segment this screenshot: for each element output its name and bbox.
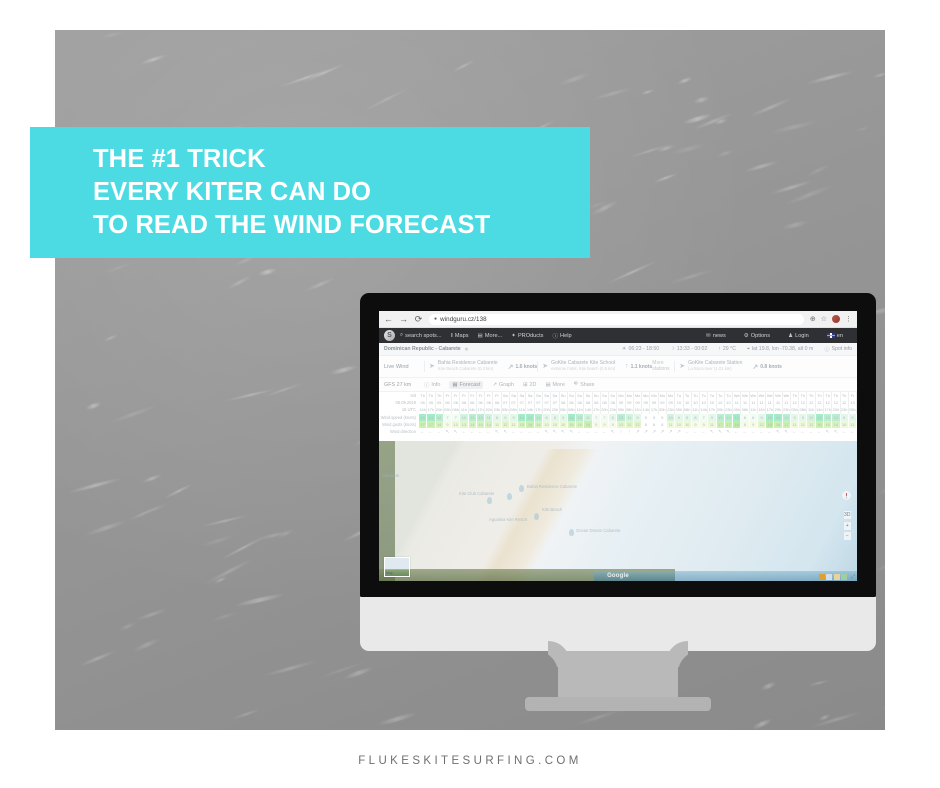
wind-speed-cell: 13 — [717, 414, 725, 421]
hour-cell: 14h — [419, 406, 427, 413]
wind-speed-cell: 9 — [560, 414, 568, 421]
uk-flag-icon — [827, 333, 835, 338]
row-label: Init — [379, 392, 419, 399]
hour-cell: 20h — [774, 406, 782, 413]
wind-gust-cell: 17 — [783, 421, 791, 428]
wind-speed-cell: 15 — [419, 414, 427, 421]
wind-gust-cell: 10 — [675, 421, 683, 428]
map-zoom-in-button[interactable]: + — [844, 522, 852, 530]
table-row-hour: 18 UTC 14h17h20h05h08h11h14h17h20h23h05h… — [379, 406, 857, 413]
day-cell: 06 — [444, 399, 452, 406]
weekday-cell: We — [774, 392, 782, 399]
map-zoom-out-button[interactable]: − — [844, 532, 852, 540]
wind-gust-cell: 9 — [609, 421, 617, 428]
weekday-cell: Fr — [469, 392, 477, 399]
wind-speed-cells: 1514127710131311899141412889141311778131… — [419, 414, 857, 421]
day-cell: 12 — [824, 399, 832, 406]
wind-gust-cell: 18 — [766, 421, 774, 428]
wind-speed-cell: 9 — [634, 414, 642, 421]
wind-speed-cell: 13 — [783, 414, 791, 421]
language-label: en — [837, 333, 843, 339]
windguru-logo[interactable]: S — [384, 330, 395, 341]
hour-cell: 20h — [485, 406, 493, 413]
wind-gust-cell: 15 — [477, 421, 485, 428]
wind-direction-cell: ← — [436, 428, 444, 435]
wind-speed-cell: 9 — [791, 414, 799, 421]
wind-speed-cell: 13 — [469, 414, 477, 421]
live-station[interactable]: ➤ GoKite Cabarete Station La Boca river … — [674, 361, 742, 372]
weekday-cell: Sa — [510, 392, 518, 399]
day-cell: 06 — [477, 399, 485, 406]
wind-speed-cell: 7 — [601, 414, 609, 421]
day-cell: 11 — [733, 399, 741, 406]
weekday-cell: Tu — [708, 392, 716, 399]
nav-label: Login — [795, 333, 809, 339]
reload-icon[interactable]: ⟳ — [414, 315, 423, 324]
wind-speed-cell: 6 — [741, 414, 749, 421]
map-layer-swatch[interactable] — [834, 574, 840, 580]
pegman-icon[interactable] — [819, 574, 825, 580]
grid-icon: ⊞ — [523, 382, 528, 388]
tab-forecast[interactable]: ▦ Forecast — [449, 381, 483, 389]
hour-cell: 08h — [626, 406, 634, 413]
wind-direction-cell: ← — [460, 428, 468, 435]
nav-login[interactable]: ♟ Login — [788, 333, 809, 339]
hour-cell: 05h — [675, 406, 683, 413]
wind-speed-cell: 14 — [518, 414, 526, 421]
sunrise-sunset: ☀ 06:23 - 18:50 — [622, 346, 659, 352]
wind-gust-cell: 16 — [584, 421, 592, 428]
spot-info-link[interactable]: ⓘ Spot info — [824, 346, 852, 353]
hour-cell: 14h — [700, 406, 708, 413]
bookmark-star-icon[interactable]: ☆ — [821, 316, 827, 323]
table-row-day: 05.09.2019 05050506060606060606070707070… — [379, 399, 857, 406]
wind-gust-cell: 10 — [543, 421, 551, 428]
wind-direction-cell: ↖ — [832, 428, 840, 435]
map-type-label: Map — [386, 571, 393, 575]
wind-speed-cell: 8 — [692, 414, 700, 421]
wind-gust-cell: 17 — [427, 421, 435, 428]
live-wind-row: Live Wind ➤ Bahia Residence Cabarete Kit… — [379, 356, 857, 378]
tab-more[interactable]: ▤ More — [545, 382, 564, 388]
wind-speed-cell: 11 — [584, 414, 592, 421]
weekday-cell: Th — [436, 392, 444, 399]
map-pin[interactable] — [487, 497, 492, 504]
nav-more[interactable]: ▤ More... — [478, 333, 503, 339]
weekday-cell: Su — [601, 392, 609, 399]
map-pin[interactable] — [519, 485, 524, 492]
wind-gust-cell: 12 — [634, 421, 642, 428]
wind-speed-cell: 14 — [568, 414, 576, 421]
wind-gust-cell: 13 — [460, 421, 468, 428]
navbar-right: ✉ news ⚙ Options ♟ Login — [706, 333, 852, 339]
wind-direction-cell: ← — [477, 428, 485, 435]
tab-2d[interactable]: ⊞ 2D — [523, 382, 536, 388]
wind-direction-cell: ← — [758, 428, 766, 435]
wind-direction-cell: ← — [700, 428, 708, 435]
weekday-cell: Tu — [675, 392, 683, 399]
day-cell: 07 — [551, 399, 559, 406]
day-cell: 07 — [526, 399, 534, 406]
products-icon: ✦ — [511, 333, 516, 339]
wind-speed-cell: 9 — [510, 414, 518, 421]
weekday-cell: Fr — [460, 392, 468, 399]
day-cell: 12 — [799, 399, 807, 406]
hour-cell: 05h — [444, 406, 452, 413]
google-watermark: Google — [607, 573, 629, 579]
wind-direction-cell: ↖ — [493, 428, 501, 435]
wind-speed-cell: 6 — [750, 414, 758, 421]
tab-share[interactable]: ⎆ Share — [574, 381, 595, 388]
day-cell: 11 — [750, 399, 758, 406]
hour-cell: 05h — [791, 406, 799, 413]
nav-help[interactable]: ⓘ Help — [552, 332, 571, 340]
wind-gust-cell: 15 — [518, 421, 526, 428]
weekday-cell: Th — [816, 392, 824, 399]
nav-label: PROducts — [518, 333, 544, 339]
weekday-cell: We — [733, 392, 741, 399]
wind-direction-cell: ↗ — [667, 428, 675, 435]
map-layer-swatch[interactable] — [826, 574, 832, 580]
wind-gust-cell: 15 — [568, 421, 576, 428]
weekday-cell: Sa — [518, 392, 526, 399]
nav-maps[interactable]: ‖ Maps — [451, 333, 469, 339]
headline-text: THE #1 TRICK EVERY KITER CAN DO TO READ … — [93, 143, 490, 242]
hour-cell: 05h — [502, 406, 510, 413]
fullscreen-icon[interactable]: ⤢ — [851, 574, 855, 580]
nav-label: news — [713, 333, 726, 339]
wind-direction-cell: ← — [791, 428, 799, 435]
browser-window: ← → ⟳ ● windguru.cz/138 ⊕ ☆ ⋮ — [379, 311, 857, 581]
nav-news[interactable]: ✉ news — [706, 333, 726, 339]
search-icon: ⌕ — [400, 332, 403, 339]
row-label: Wind speed (knots) — [379, 414, 419, 421]
nav-label: search spots... — [405, 333, 441, 339]
day-cell: 08 — [560, 399, 568, 406]
more-stations-link[interactable]: More stations — [652, 361, 674, 372]
wind-gust-cell: 11 — [708, 421, 716, 428]
day-cell: 10 — [692, 399, 700, 406]
wind-direction-cell: ↖ — [824, 428, 832, 435]
spot-info-bar: Dominican Republic - Cabarete ★ ☀ 06:23 … — [379, 343, 857, 356]
map-label: Kite Club Cabarete — [459, 491, 494, 496]
help-icon: ⓘ — [552, 332, 558, 340]
station-sub: extreme hotel, Kite beach (0.5 km) — [551, 367, 615, 372]
gear-icon: ⚙ — [744, 333, 749, 339]
wind-gust-cell: 14 — [832, 421, 840, 428]
day-cell: 08 — [601, 399, 609, 406]
monitor-stand-foot — [525, 697, 711, 711]
wind-gust-cell: 16 — [774, 421, 782, 428]
row-label: Wind direction — [379, 428, 419, 435]
wind-speed-cell: 12 — [535, 414, 543, 421]
wind-speed-cell: 10 — [667, 414, 675, 421]
map-pin[interactable] — [569, 529, 574, 536]
wind-gust-cell: 11 — [493, 421, 501, 428]
moonrise-moonset: ☽ 13:33 - 00:02 — [670, 346, 707, 352]
nav-products[interactable]: ✦ PROducts — [511, 333, 543, 339]
nav-options[interactable]: ⚙ Options — [744, 333, 770, 339]
news-icon: ✉ — [706, 333, 711, 339]
day-cell: 09 — [642, 399, 650, 406]
hour-cell: 11h — [634, 406, 642, 413]
wind-gust-cell: 10 — [684, 421, 692, 428]
wind-direction-cell: ← — [535, 428, 543, 435]
day-cell: 08 — [584, 399, 592, 406]
weekday-cell: Fr — [477, 392, 485, 399]
wind-direction-cell: ← — [733, 428, 741, 435]
sun-times: 06:23 - 18:50 — [629, 346, 660, 352]
wind-speed-cell: 9 — [675, 414, 683, 421]
wind-gust-cell: 14 — [436, 421, 444, 428]
wind-speed-cell: 13 — [477, 414, 485, 421]
wind-direction-cell: ← — [692, 428, 700, 435]
live-wind-label: Live Wind — [384, 364, 424, 370]
map-pin[interactable] — [534, 513, 539, 520]
headline-banner: THE #1 TRICK EVERY KITER CAN DO TO READ … — [30, 127, 590, 258]
browser-menu-icon[interactable]: ⋮ — [845, 316, 852, 323]
hour-cell: 05h — [849, 406, 857, 413]
address-bar[interactable]: ● windguru.cz/138 — [429, 314, 804, 325]
hour-cell: 11h — [518, 406, 526, 413]
sun-icon: ☀ — [622, 346, 627, 352]
day-cell: 12 — [841, 399, 849, 406]
wind-arrow-icon: ➤ — [679, 362, 685, 370]
weekday-cell: Mo — [634, 392, 642, 399]
table-icon: ▦ — [452, 382, 457, 388]
wind-speed-cell: 5 — [650, 414, 658, 421]
day-cell: 09 — [617, 399, 625, 406]
wind-direction-cells: ←←←↖↖←←←←↖↖←←←←↖↖↖↖←←←←↖↑↑↗↗↗↗↗↗←←←↖↖↖←←… — [419, 428, 857, 435]
weekday-cell: Tu — [725, 392, 733, 399]
wind-speed-cell: 14 — [774, 414, 782, 421]
model-tab-bar: GFS 27 km ⓘ Info ▦ Forecast ↗ Graph ⊞ — [379, 378, 857, 392]
imac-monitor: ← → ⟳ ● windguru.cz/138 ⊕ ☆ ⋮ — [360, 293, 876, 661]
more-icon: ▤ — [545, 382, 550, 388]
wind-gust-cell: 11 — [849, 421, 857, 428]
station-sub: La Boca river (1.01 km) — [688, 367, 742, 372]
map-pin[interactable] — [507, 493, 512, 500]
more-icon: ▤ — [478, 333, 483, 339]
wind-speed-cell: 11 — [626, 414, 634, 421]
weekday-cell: Sa — [502, 392, 510, 399]
wind-gust-cell: 17 — [717, 421, 725, 428]
maps-icon: ‖ — [451, 333, 453, 339]
map-beach-strip — [393, 449, 766, 581]
compass-icon[interactable] — [842, 491, 851, 500]
wind-gust-cell: 6 — [650, 421, 658, 428]
satellite-map[interactable]: Bahia Residence Cabarete Kite Club Cabar… — [379, 441, 857, 581]
wind-gust-cell: 9 — [444, 421, 452, 428]
weekday-cell: We — [758, 392, 766, 399]
lock-icon: ● — [434, 316, 437, 322]
wind-speed-cell: 8 — [841, 414, 849, 421]
wind-direction-cell: ↖ — [568, 428, 576, 435]
forecast-table: Init ThThThFrFrFrFrFrFrFrSaSaSaSaSaSaSaS… — [379, 392, 857, 436]
hour-cell: 17h — [535, 406, 543, 413]
wind-direction-cell: ← — [419, 428, 427, 435]
weekday-cell: Su — [560, 392, 568, 399]
map-bottom-controls: ⤢ — [819, 574, 855, 580]
wind-speed-cell: 15 — [766, 414, 774, 421]
wind-gust-cell: 10 — [560, 421, 568, 428]
nav-label: Options — [751, 333, 770, 339]
map-label: Cabarete — [382, 473, 399, 478]
row-label: 18 UTC — [379, 406, 419, 413]
hour-cell: 11h — [750, 406, 758, 413]
wind-direction-cell: ↖ — [551, 428, 559, 435]
wind-gust-cell: 9 — [692, 421, 700, 428]
weekday-cell: Su — [584, 392, 592, 399]
wind-direction-cell: ↖ — [543, 428, 551, 435]
wind-speed-cell: 9 — [849, 414, 857, 421]
hour-cell: 23h — [609, 406, 617, 413]
weekday-cell: Tu — [692, 392, 700, 399]
hour-cell: 20h — [659, 406, 667, 413]
wind-speed-cell: 7 — [593, 414, 601, 421]
coordinates: ⌖ lat 19.8, lon -70.38, alt 0 m — [747, 346, 813, 353]
hour-cell: 14h — [469, 406, 477, 413]
day-cells: 0505050606060606060607070707070707080808… — [419, 399, 857, 406]
live-station[interactable]: ➤ Bahia Residence Cabarete Kite Beach Ca… — [424, 361, 498, 372]
extensions-icon[interactable]: ⊕ — [810, 316, 816, 323]
table-row-wind-direction: Wind direction ←←←↖↖←←←←↖↖←←←←↖↖↖↖←←←←↖↑… — [379, 428, 857, 435]
weekday-cell: Th — [419, 392, 427, 399]
forward-icon[interactable]: → — [399, 315, 408, 324]
wind-speed-cell: 7 — [700, 414, 708, 421]
map-3d-button[interactable]: 3D — [844, 511, 852, 519]
favorite-star-icon[interactable]: ★ — [464, 346, 469, 353]
tab-info[interactable]: ⓘ Info — [424, 381, 440, 389]
weekday-cell: Sa — [535, 392, 543, 399]
nav-label: Help — [560, 333, 572, 339]
wind-direction-cell: ← — [469, 428, 477, 435]
map-label: Agualina Kite Resort — [489, 517, 527, 522]
weekday-cell: Mo — [667, 392, 675, 399]
back-icon[interactable]: ← — [384, 315, 393, 324]
day-cell: 06 — [460, 399, 468, 406]
wind-gust-cell: 8 — [741, 421, 749, 428]
moon-times: 13:33 - 00:02 — [677, 346, 708, 352]
temperature: ↑ 29 °C — [718, 346, 736, 352]
day-cell: 09 — [659, 399, 667, 406]
map-label: Ocean Dream Cabarete — [576, 528, 620, 533]
wind-direction-cell: ↖ — [708, 428, 716, 435]
knot-arrow-icon: ↑ — [625, 363, 629, 370]
nav-search-spots[interactable]: ⌕ search spots... — [400, 332, 442, 339]
wind-gust-cell: 15 — [576, 421, 584, 428]
day-cell: 10 — [708, 399, 716, 406]
weekday-cell: Tu — [700, 392, 708, 399]
weekday-cell: We — [741, 392, 749, 399]
hour-cell: 17h — [593, 406, 601, 413]
wind-speed-cell: 10 — [460, 414, 468, 421]
live-station[interactable]: ➤ GoKite Cabarete Kite School extreme ho… — [537, 361, 615, 372]
row-label: 05.09.2019 — [379, 399, 419, 406]
day-cell: 11 — [758, 399, 766, 406]
wind-arrow-icon: ➤ — [542, 362, 548, 370]
wind-speed-cell: 13 — [824, 414, 832, 421]
day-cell: 06 — [452, 399, 460, 406]
weekday-cell: We — [750, 392, 758, 399]
day-cell: 09 — [634, 399, 642, 406]
spot-name[interactable]: Dominican Republic - Cabarete — [384, 346, 461, 352]
wind-direction-cell: ← — [799, 428, 807, 435]
hour-cell: 14h — [758, 406, 766, 413]
weekday-cells: ThThThFrFrFrFrFrFrFrSaSaSaSaSaSaSaSuSuSu… — [419, 392, 857, 399]
wind-gust-cell: 10 — [452, 421, 460, 428]
wind-direction-cell: ← — [518, 428, 526, 435]
day-cell: 12 — [807, 399, 815, 406]
map-label: Kite Beach — [542, 507, 562, 512]
wind-direction-cell: ↖ — [774, 428, 782, 435]
wind-direction-cell: ↖ — [502, 428, 510, 435]
day-cell: 12 — [791, 399, 799, 406]
weekday-cell: Tu — [684, 392, 692, 399]
hour-cell: 08h — [684, 406, 692, 413]
monitor-chin — [360, 597, 876, 651]
station-knots: ↗ 1.6 knots — [508, 363, 538, 371]
spot-info-label: Spot info — [832, 346, 852, 352]
day-cell: 09 — [650, 399, 658, 406]
tab-label: More — [553, 382, 565, 388]
map-type-thumbnail[interactable]: Map — [384, 557, 410, 577]
moon-icon: ☽ — [670, 346, 675, 352]
wind-direction-cell: ↖ — [725, 428, 733, 435]
weekday-cell: Fr — [849, 392, 857, 399]
wind-speed-cell: 9 — [502, 414, 510, 421]
windguru-navbar: S ⌕ search spots... ‖ Maps ▤ More... ✦ — [379, 328, 857, 343]
tab-graph[interactable]: ↗ Graph — [492, 382, 514, 388]
wind-arrow-icon: ➤ — [429, 362, 435, 370]
map-surf-line — [594, 571, 857, 581]
wind-gust-cell: 16 — [526, 421, 534, 428]
day-cell: 08 — [576, 399, 584, 406]
wind-gust-cell: 16 — [816, 421, 824, 428]
weekday-cell: Tu — [717, 392, 725, 399]
day-cell: 06 — [469, 399, 477, 406]
hour-cell: 23h — [841, 406, 849, 413]
day-cell: 10 — [684, 399, 692, 406]
monitor-stand-neck — [558, 651, 678, 703]
weekday-cell: We — [766, 392, 774, 399]
day-cell: 11 — [774, 399, 782, 406]
knot-arrow-icon: ↗ — [508, 363, 514, 371]
wind-direction-cell: ← — [576, 428, 584, 435]
profile-avatar-icon[interactable] — [832, 315, 840, 323]
wind-speed-cell: 10 — [807, 414, 815, 421]
wind-direction-cell: ← — [841, 428, 849, 435]
wind-speed-cell: 14 — [733, 414, 741, 421]
wind-gust-cell: 11 — [791, 421, 799, 428]
wind-gust-cell: 6 — [642, 421, 650, 428]
hour-cell: 11h — [460, 406, 468, 413]
day-cell: 07 — [510, 399, 518, 406]
wind-speed-cell: 8 — [609, 414, 617, 421]
map-layer-swatch[interactable] — [841, 574, 847, 580]
weekday-cell: Mo — [659, 392, 667, 399]
tab-label: Info — [431, 382, 440, 388]
day-cell: 10 — [675, 399, 683, 406]
day-cell: 12 — [832, 399, 840, 406]
day-cell: 07 — [535, 399, 543, 406]
weekday-cell: Sa — [543, 392, 551, 399]
language-selector[interactable]: en — [827, 333, 843, 339]
footer-url: FLUKESKITESURFING.COM — [0, 755, 940, 767]
wind-speed-cell: 14 — [816, 414, 824, 421]
station-knots: ↑ 1.1 knots — [625, 363, 652, 370]
monitor-bezel: ← → ⟳ ● windguru.cz/138 ⊕ ☆ ⋮ — [360, 293, 876, 597]
